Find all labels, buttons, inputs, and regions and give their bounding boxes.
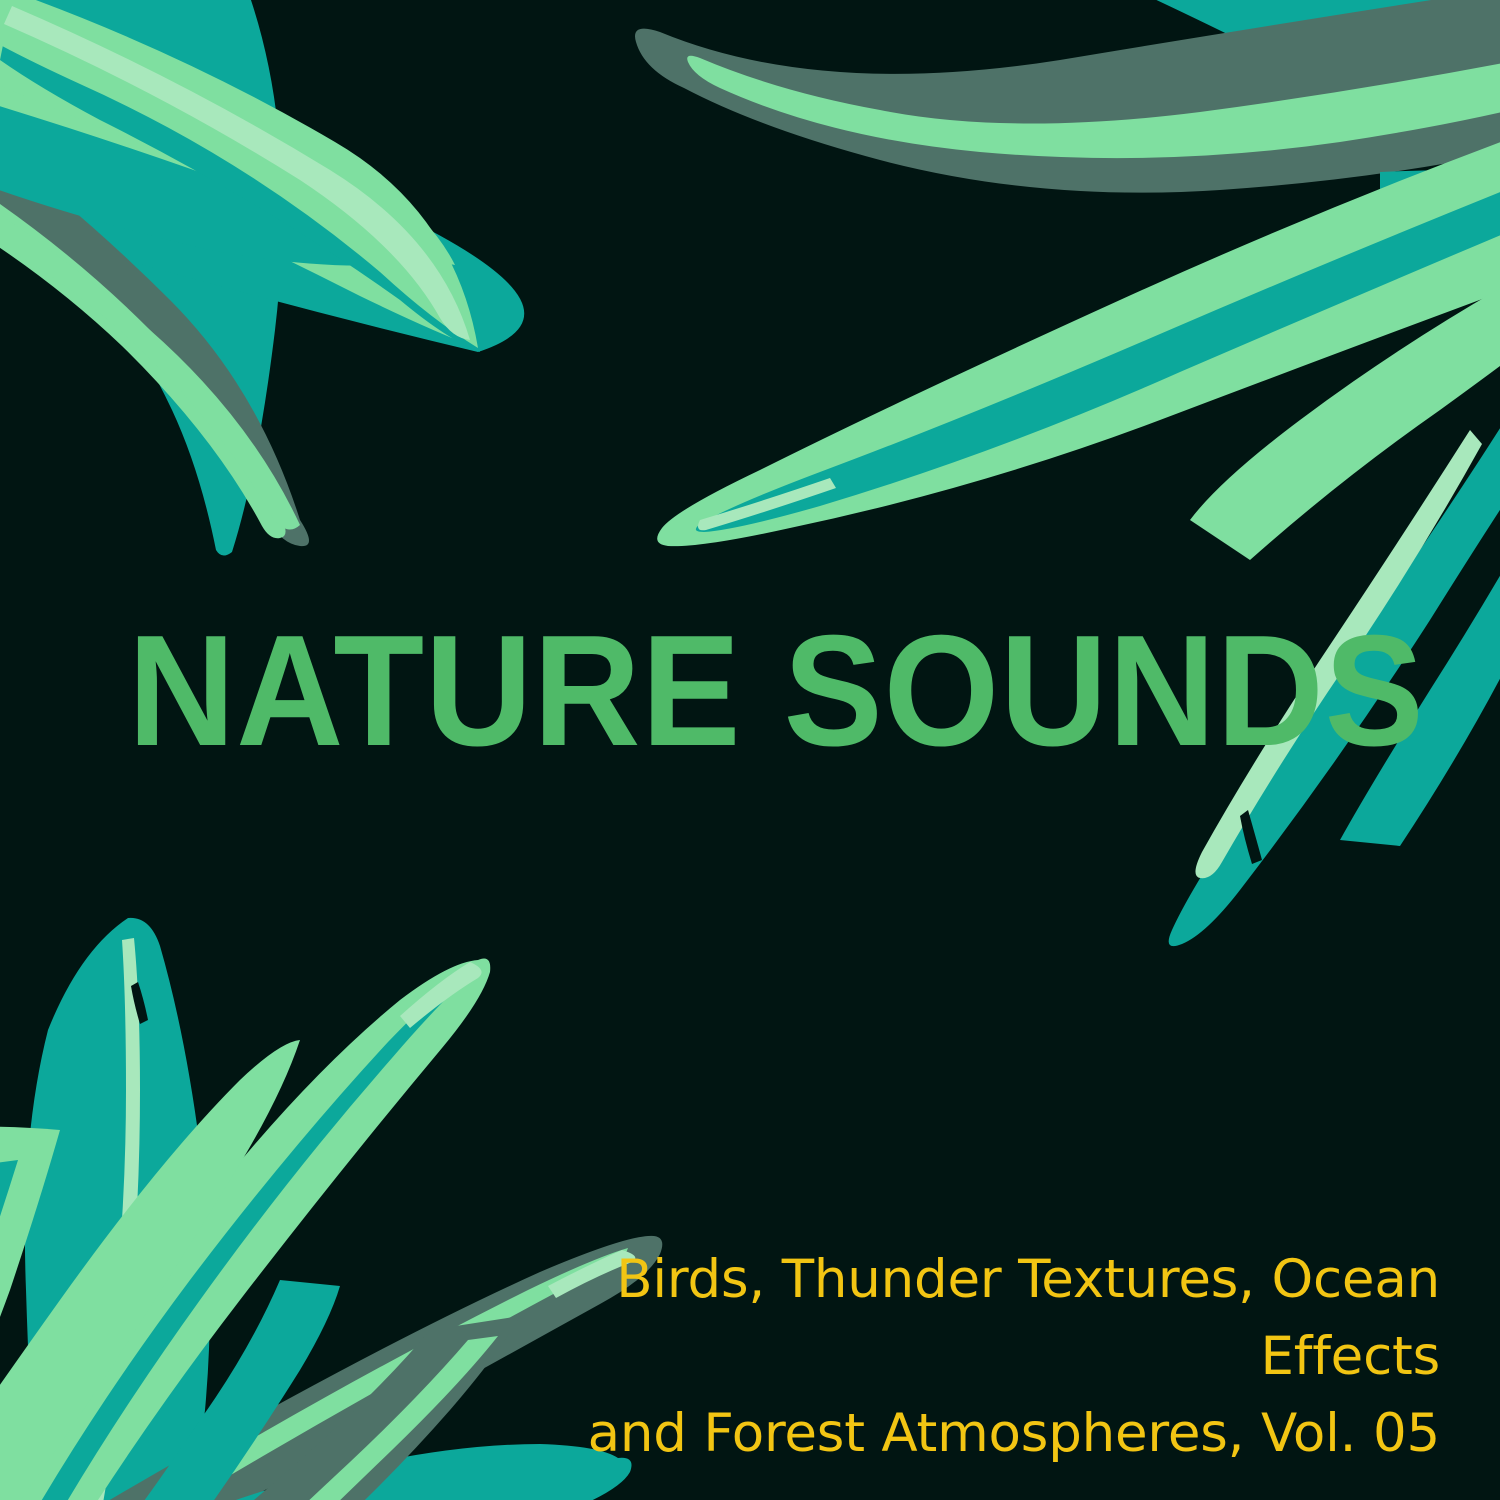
leaf-artwork	[0, 0, 1500, 1500]
album-cover: NATURE SOUNDS Birds, Thunder Textures, O…	[0, 0, 1500, 1500]
